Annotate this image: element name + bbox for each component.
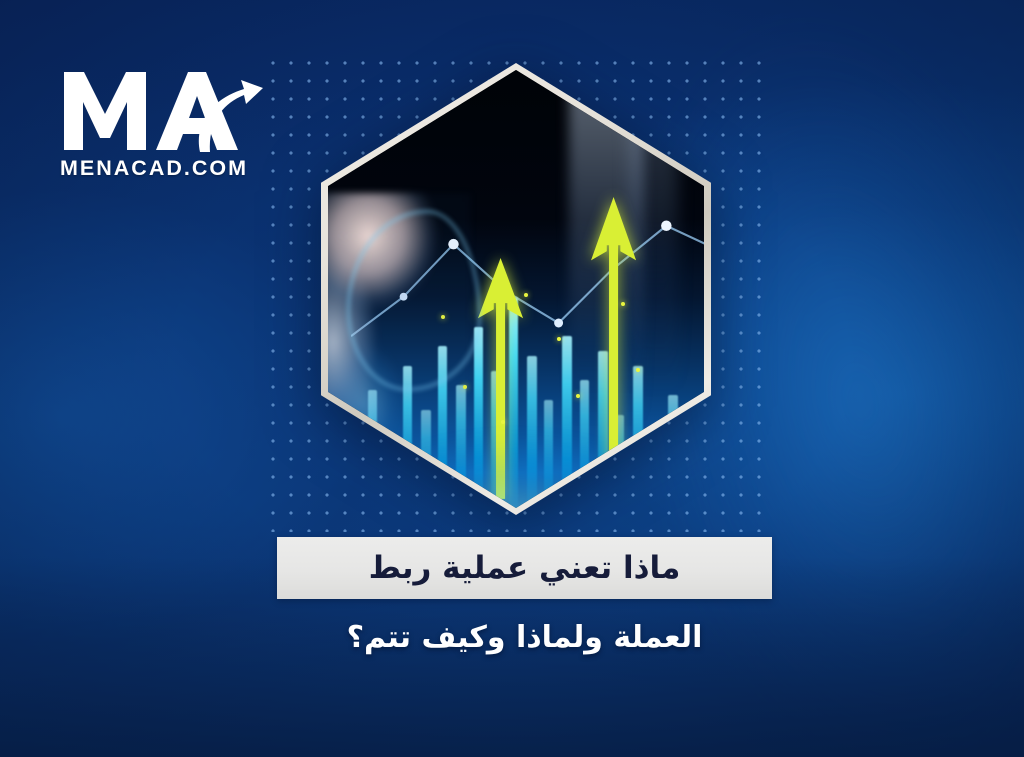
photo-floor-glow (328, 412, 704, 508)
hexagon-photo (328, 70, 704, 508)
headline-box: ماذا تعني عملية ربط (277, 537, 772, 599)
logo-domain-text: MENACAD.COM (60, 156, 290, 181)
hexagon-photo-badge (321, 63, 711, 515)
headline-line-1: ماذا تعني عملية ربط (369, 550, 681, 586)
poster-canvas: MENACAD.COM (0, 0, 1024, 757)
brand-logo[interactable]: MENACAD.COM (60, 66, 290, 196)
logo-monogram (60, 66, 265, 152)
headline-line-2: العملة ولماذا وكيف تتم؟ (277, 620, 772, 655)
